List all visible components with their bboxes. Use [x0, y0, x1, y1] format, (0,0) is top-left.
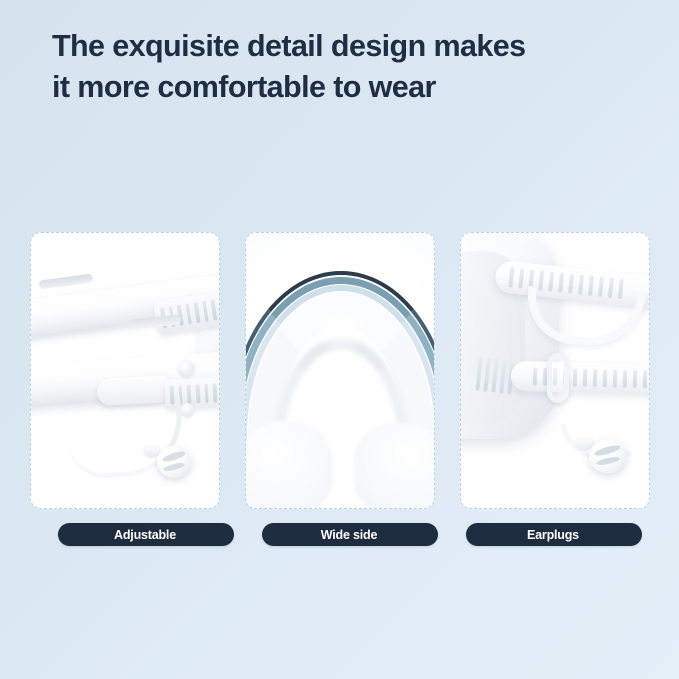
- feature-badge-wide-side: Wide side: [262, 523, 438, 546]
- page-title-line-2: it more comfortable to wear: [52, 67, 652, 108]
- swim-goggle-earplug-photo: [461, 233, 649, 508]
- page-title-line-1: The exquisite detail design makes: [52, 26, 652, 67]
- feature-label-row: Adjustable Wide side Earplugs: [30, 523, 650, 547]
- feature-badge-adjustable: Adjustable: [58, 523, 234, 546]
- strap-buckle: [547, 353, 569, 403]
- swim-goggle-adjustable-strap-photo: [31, 233, 219, 508]
- earplug-bud: [589, 439, 627, 473]
- page-title: The exquisite detail design makes it mor…: [52, 26, 652, 108]
- swim-goggle-nose-bridge-photo: [246, 233, 434, 508]
- lower-strap: [511, 361, 649, 395]
- feature-card-wide-side[interactable]: [245, 232, 435, 509]
- earplug-bud: [157, 446, 191, 478]
- feature-card-earplugs[interactable]: [460, 232, 650, 509]
- feature-card-adjustable[interactable]: [30, 232, 220, 509]
- feature-badge-earplugs: Earplugs: [466, 523, 642, 546]
- feature-card-row: [30, 232, 650, 509]
